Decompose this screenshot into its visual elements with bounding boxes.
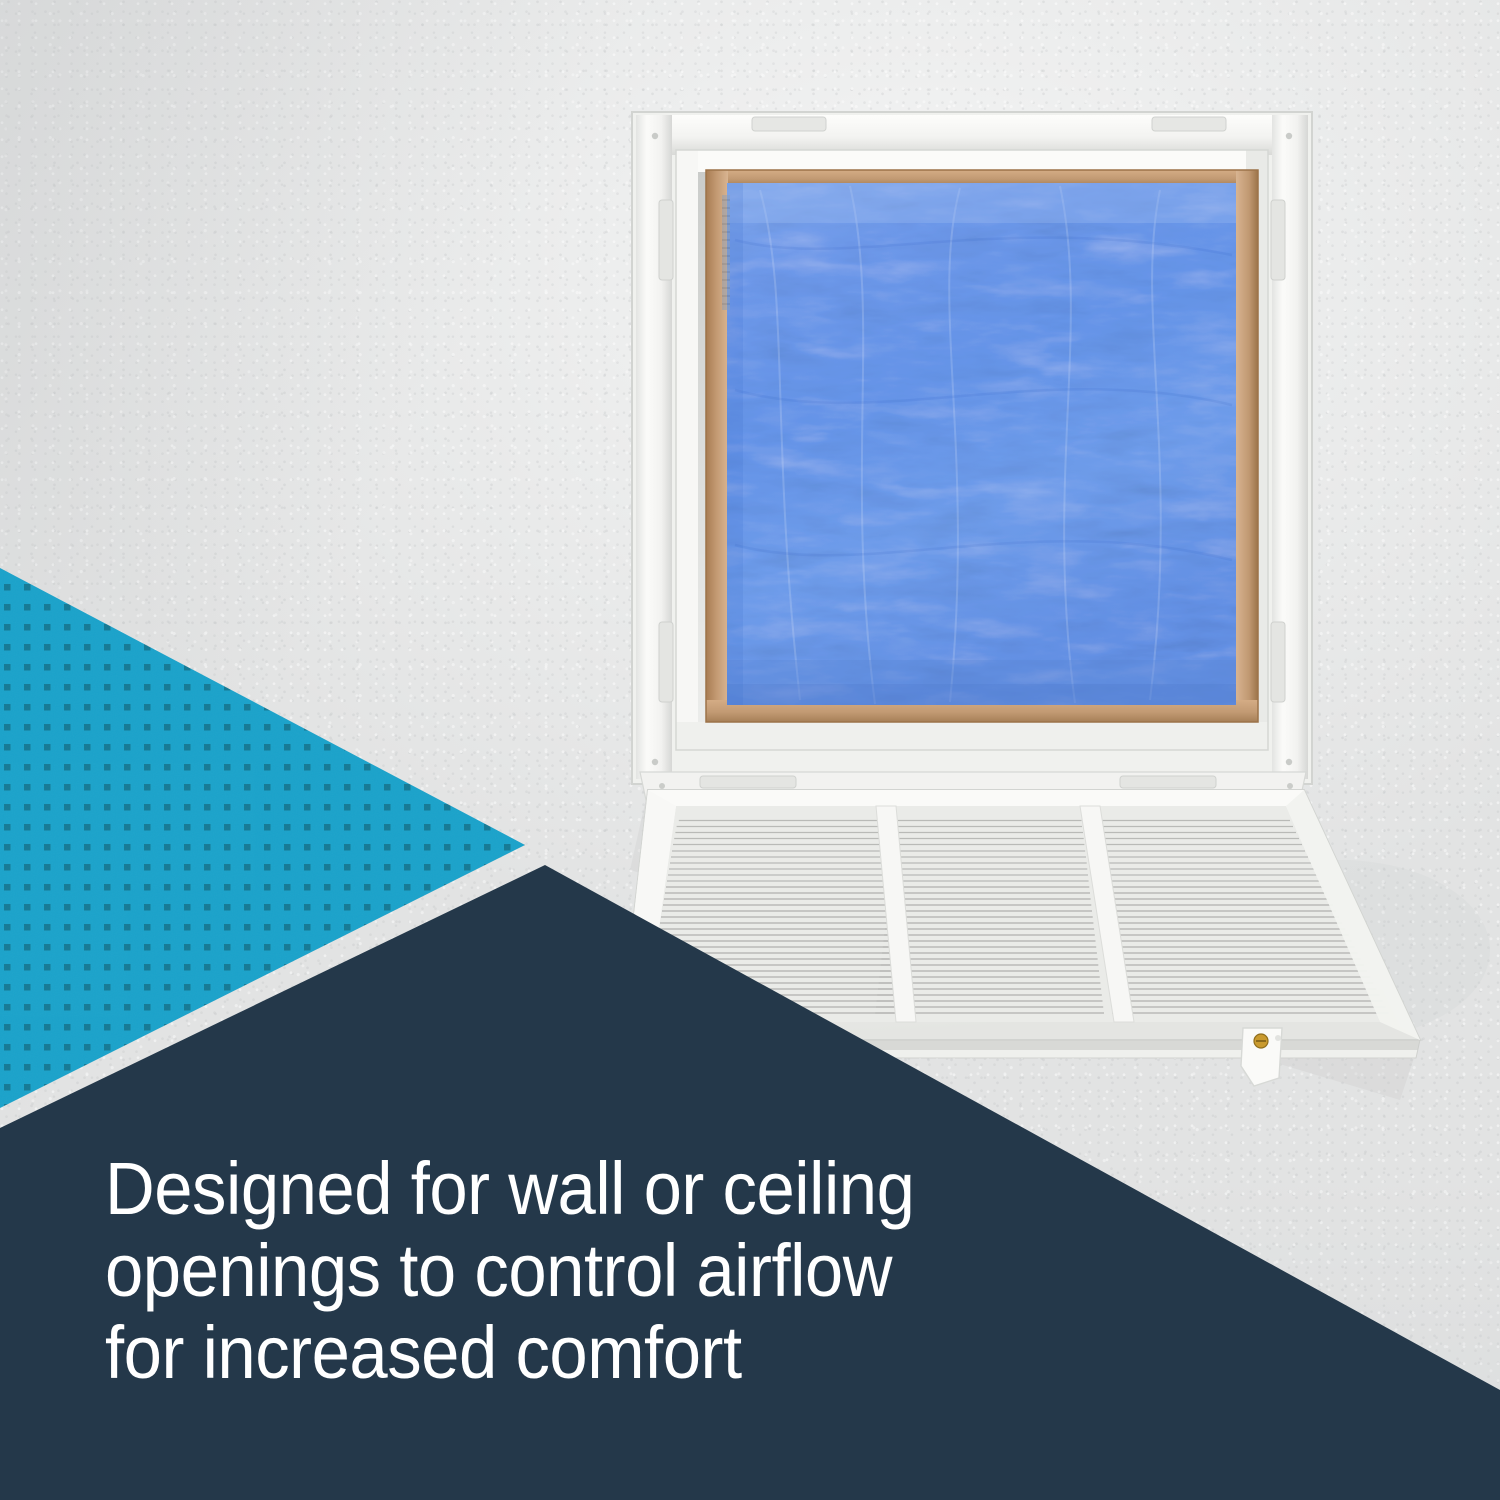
frame-screw-top-right <box>1286 133 1292 139</box>
door-rail-top <box>648 790 1304 806</box>
latch-pivot-pin <box>1275 1035 1281 1041</box>
frame-screw-bottom-left <box>652 759 658 765</box>
hinge-left <box>700 776 796 788</box>
retainer-clip-right-upper <box>1271 200 1285 280</box>
frame-screw-top-left <box>652 133 658 139</box>
filter-wire-mesh <box>722 195 730 310</box>
frame-screw-bottom-right <box>1286 759 1292 765</box>
retainer-clip-left-lower <box>659 622 673 702</box>
hinge-clip-top-left <box>752 117 826 131</box>
headline-text: Designed for wall or ceiling openings to… <box>105 1148 1044 1394</box>
retainer-clip-right-lower <box>1271 622 1285 702</box>
hinge-clip-top-right <box>1152 117 1226 131</box>
marketing-image-canvas: Designed for wall or ceiling openings to… <box>0 0 1500 1500</box>
air-filter <box>706 170 1258 722</box>
hinge-right <box>1120 776 1216 788</box>
door-latch-tab[interactable] <box>1241 1028 1282 1086</box>
retainer-clip-left-upper <box>659 200 673 280</box>
